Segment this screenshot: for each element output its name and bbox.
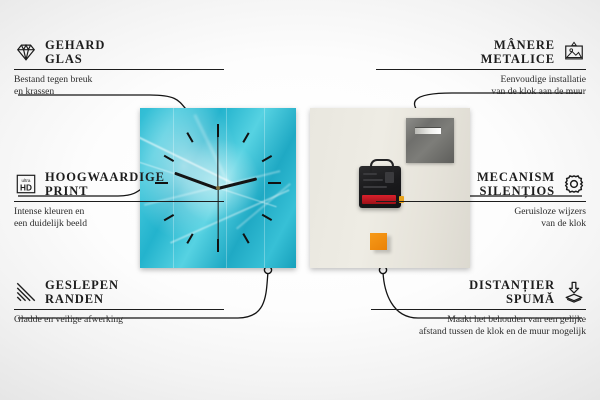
feature-header: DISTANȚIER SPUMĂ xyxy=(371,278,586,306)
feature-metal-handles: MÂNERE METALICE Eenvoudige installatie v… xyxy=(376,38,586,98)
gear-icon xyxy=(562,173,586,195)
feature-description: Gladde en veilige afwerking xyxy=(14,314,224,326)
feature-title: HOOGWAARDIGE PRINT xyxy=(45,170,165,198)
diagonal-lines-icon xyxy=(14,281,38,303)
feature-title: MÂNERE METALICE xyxy=(481,38,555,66)
feature-tempered-glass: GEHARD GLAS Bestand tegen breuk en krass… xyxy=(14,38,224,98)
feature-header: GEHARD GLAS xyxy=(14,38,224,66)
metal-hanger-plate[interactable] xyxy=(406,118,454,163)
feature-title: DISTANȚIER SPUMĂ xyxy=(469,278,555,306)
press-down-layers-icon xyxy=(562,281,586,303)
svg-text:ultra: ultra xyxy=(22,178,31,183)
feature-polished-edges: GESLEPEN RANDEN Gladde en veilige afwerk… xyxy=(14,278,224,326)
feature-description: Maakt het behouden van een gelijke afsta… xyxy=(371,314,586,338)
clock-tick xyxy=(217,124,219,137)
divider xyxy=(14,69,224,70)
feature-description: Geruisloze wijzers van de klok xyxy=(376,206,586,230)
feature-header: GESLEPEN RANDEN xyxy=(14,278,224,306)
clock-tick xyxy=(268,182,281,184)
feature-title: GEHARD GLAS xyxy=(45,38,105,66)
picture-hanger-icon xyxy=(562,41,586,63)
divider xyxy=(14,309,224,310)
mechanism-detail xyxy=(363,173,377,175)
svg-text:HD: HD xyxy=(20,183,32,192)
feature-silent-mechanism: MECANISM SILENȚIOS Geruisloze wijzers va… xyxy=(376,170,586,230)
feature-hd-print: ultra HD HOOGWAARDIGE PRINT Intense kleu… xyxy=(14,170,224,230)
feature-description: Eenvoudige installatie van de klok aan d… xyxy=(376,74,586,98)
feature-title: MECANISM SILENȚIOS xyxy=(477,170,555,198)
ultra-hd-icon: ultra HD xyxy=(14,173,38,195)
clock-tick xyxy=(242,132,249,142)
feature-title: GESLEPEN RANDEN xyxy=(45,278,119,306)
panel-seam xyxy=(264,108,265,268)
divider xyxy=(376,69,586,70)
infographic-canvas: GEHARD GLAS Bestand tegen breuk en krass… xyxy=(0,0,600,400)
feature-description: Bestand tegen breuk en krassen xyxy=(14,74,224,98)
hanger-slot xyxy=(415,127,441,134)
clock-tick xyxy=(242,233,249,243)
divider xyxy=(371,309,586,310)
feature-header: ultra HD HOOGWAARDIGE PRINT xyxy=(14,170,224,198)
feature-foam-spacer: DISTANȚIER SPUMĂ Maakt het behouden van … xyxy=(371,278,586,338)
feature-header: MECANISM SILENȚIOS xyxy=(376,170,586,198)
feature-description: Intense kleuren en een duidelijk beeld xyxy=(14,206,224,230)
diamond-icon xyxy=(14,41,38,63)
feature-header: MÂNERE METALICE xyxy=(376,38,586,66)
foam-spacer[interactable] xyxy=(370,233,387,250)
clock-tick xyxy=(186,132,193,142)
divider xyxy=(14,201,224,202)
divider xyxy=(376,201,586,202)
